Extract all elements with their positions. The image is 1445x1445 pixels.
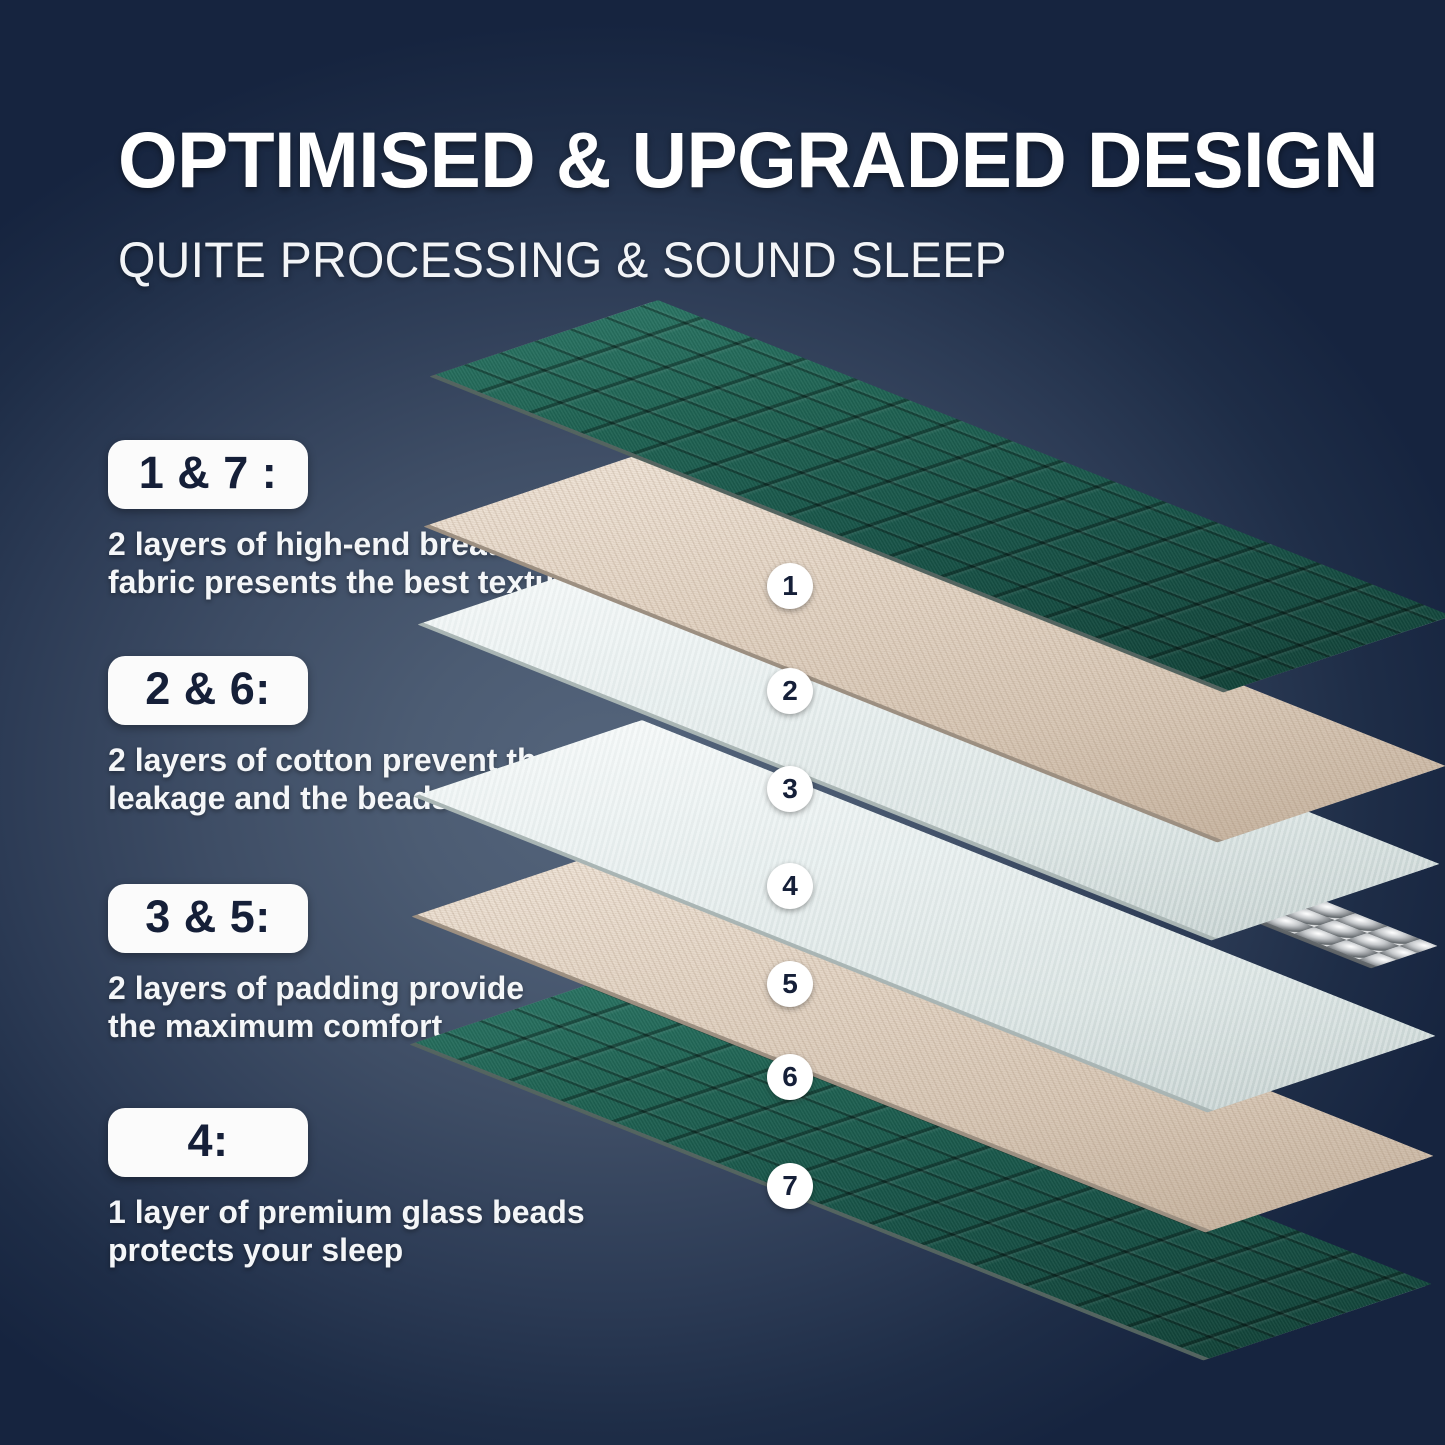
layer-badge-6: 6 [767,1054,813,1100]
layer-badge-5: 5 [767,961,813,1007]
layer-badge-2: 2 [767,668,813,714]
layer-badge-4: 4 [767,863,813,909]
layer-badge-7: 7 [767,1163,813,1209]
product-layer-infographic: OPTIMISED & UPGRADED DESIGN QUITE PROCES… [0,0,1445,1445]
layer-badge-1: 1 [767,563,813,609]
layer-number-badges: 1 2 3 4 5 6 7 [0,0,1445,1445]
layer-badge-3: 3 [767,766,813,812]
